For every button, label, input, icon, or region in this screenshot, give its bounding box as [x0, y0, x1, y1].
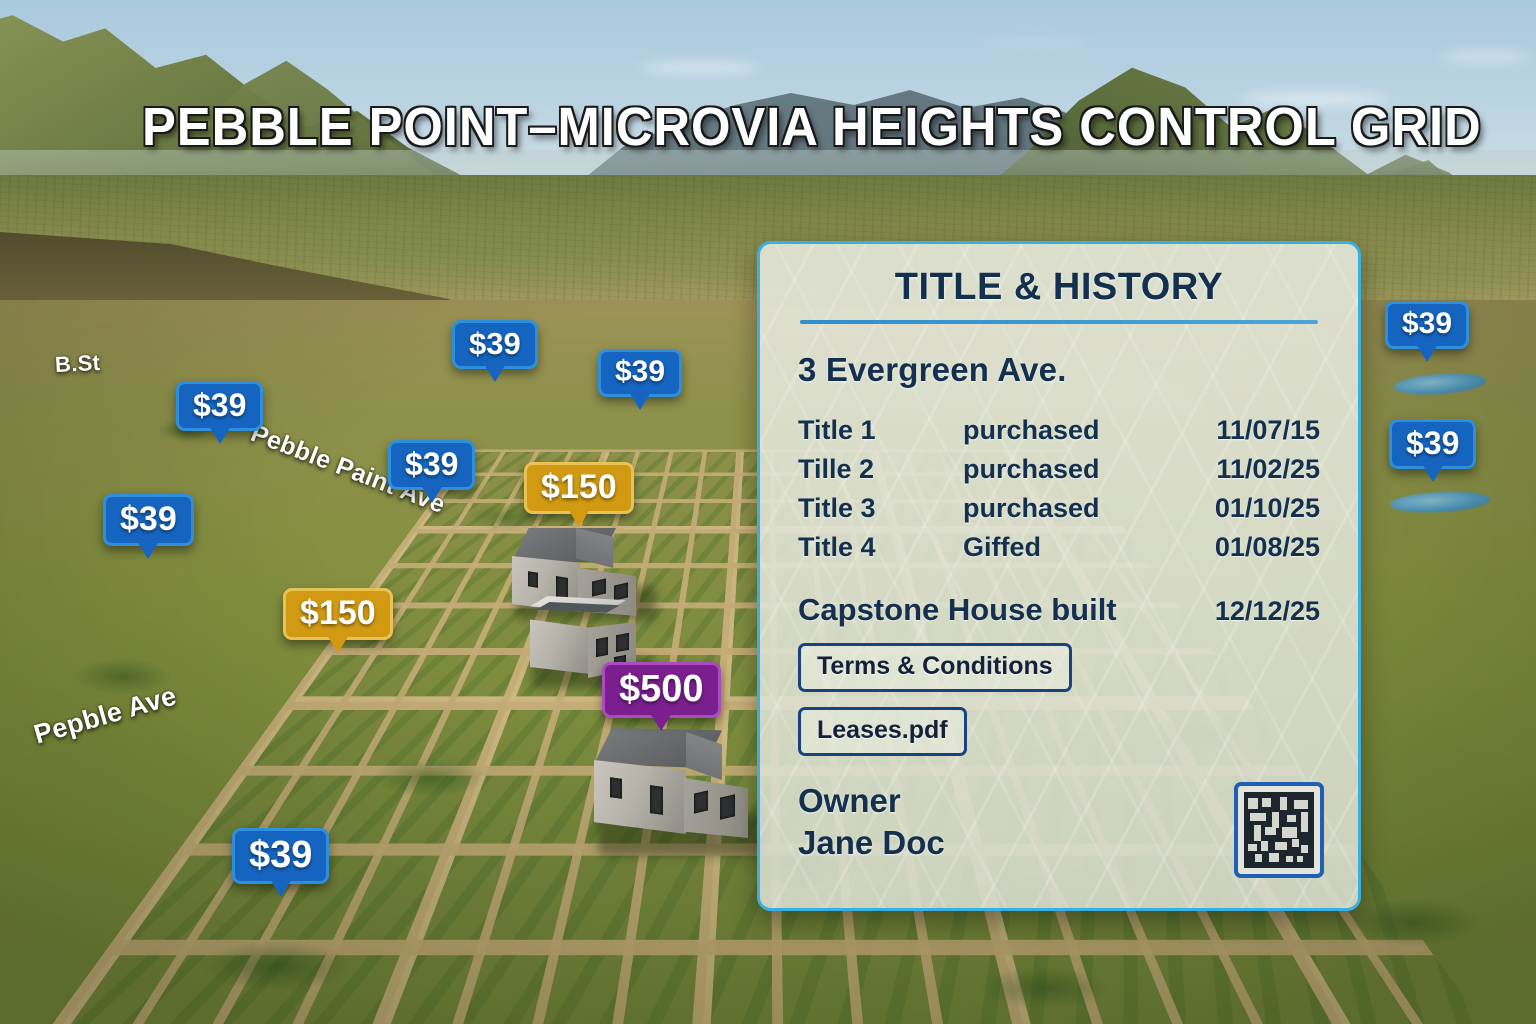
- price-pin-150-a[interactable]: $150: [524, 462, 634, 514]
- price-pin-39-f[interactable]: $39: [232, 828, 329, 884]
- history-date: 01/10/25: [1170, 489, 1320, 528]
- history-title: Title 1: [798, 411, 963, 450]
- price-pin-39-d[interactable]: $39: [452, 320, 538, 369]
- history-event: purchased: [963, 489, 1170, 528]
- price-pin-500[interactable]: $500: [602, 662, 721, 718]
- price-pin-39-a[interactable]: $39: [103, 494, 194, 546]
- price-pin-label: $500: [602, 662, 721, 718]
- qr-code-pattern: [1244, 792, 1314, 868]
- history-row: Tille 2 purchased 11/02/25: [798, 450, 1320, 489]
- price-pin-39-b[interactable]: $39: [176, 381, 263, 431]
- panel-divider: [800, 320, 1318, 324]
- price-pin-label: $39: [452, 320, 538, 369]
- history-row: Title 4 Giffed 01/08/25: [798, 528, 1320, 567]
- history-row: Title 3 purchased 01/10/25: [798, 489, 1320, 528]
- leases-pdf-button[interactable]: Leases.pdf: [798, 707, 967, 756]
- capstone-built-label: Capstone House built: [798, 592, 1170, 628]
- qr-code[interactable]: [1234, 782, 1324, 878]
- price-pin-label: $39: [176, 381, 263, 431]
- price-pin-label: $150: [283, 588, 393, 640]
- history-event: purchased: [963, 411, 1170, 450]
- capstone-built-date: 12/12/25: [1170, 596, 1320, 627]
- history-event: Giffed: [963, 528, 1170, 567]
- property-address: 3 Evergreen Ave.: [798, 351, 1320, 389]
- price-pin-39-h[interactable]: $39: [1389, 419, 1476, 469]
- title-history-panel: TITLE & HISTORY 3 Evergreen Ave. Title 1…: [757, 241, 1361, 911]
- price-pin-label: $39: [598, 349, 682, 397]
- price-pin-label: $39: [1389, 419, 1476, 469]
- map-scene: B.St Pebble Paint Ave Pepble Ave $39 $39…: [0, 0, 1536, 1024]
- history-title: Tille 2: [798, 450, 963, 489]
- history-date: 01/08/25: [1170, 528, 1320, 567]
- price-pin-label: $39: [388, 440, 475, 490]
- history-table: Title 1 purchased 11/07/15 Tille 2 purch…: [798, 411, 1320, 568]
- owner-block: Owner Jane Doc: [798, 780, 945, 864]
- owner-label: Owner: [798, 780, 945, 822]
- price-pin-150-b[interactable]: $150: [283, 588, 393, 640]
- house-lower: [588, 722, 768, 862]
- history-row: Title 1 purchased 11/07/15: [798, 411, 1320, 450]
- history-date: 11/02/25: [1170, 450, 1320, 489]
- history-event: purchased: [963, 450, 1170, 489]
- price-pin-label: $39: [232, 828, 329, 884]
- street-label-b-st: B.St: [54, 350, 101, 378]
- price-pin-39-c[interactable]: $39: [388, 440, 475, 490]
- capstone-built-row: Capstone House built 12/12/25: [798, 592, 1320, 628]
- history-date: 11/07/15: [1170, 411, 1320, 450]
- owner-name: Jane Doc: [798, 822, 945, 864]
- terms-and-conditions-button[interactable]: Terms & Conditions: [798, 643, 1072, 692]
- panel-heading: TITLE & HISTORY: [798, 266, 1320, 309]
- history-title: Title 4: [798, 528, 963, 567]
- price-pin-39-e[interactable]: $39: [598, 349, 682, 397]
- page-title: PEBBLE POINT–MICROVIA HEIGHTS CONTROL GR…: [142, 96, 1482, 158]
- price-pin-label: $150: [524, 462, 634, 514]
- history-title: Title 3: [798, 489, 963, 528]
- price-pin-39-g[interactable]: $39: [1385, 301, 1469, 349]
- price-pin-label: $39: [103, 494, 194, 546]
- price-pin-label: $39: [1385, 301, 1469, 349]
